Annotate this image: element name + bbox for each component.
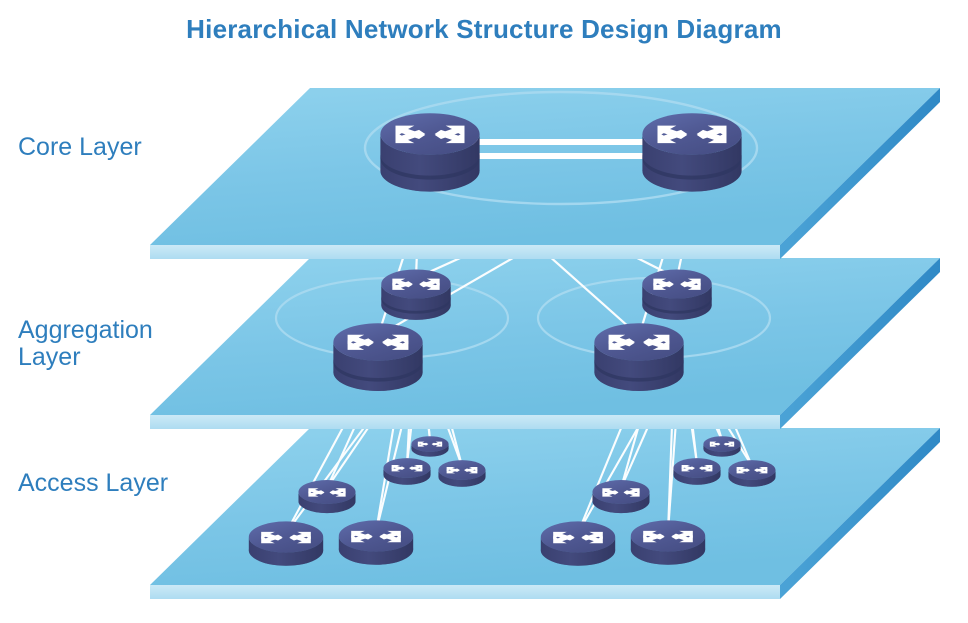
- router-icon[interactable]: [642, 269, 711, 319]
- router-icon[interactable]: [381, 269, 450, 319]
- router-icon[interactable]: [703, 436, 740, 456]
- layer-plane-access: [150, 428, 940, 599]
- router-icon[interactable]: [631, 520, 705, 564]
- router-icon[interactable]: [642, 113, 741, 191]
- router-icon[interactable]: [383, 458, 430, 485]
- layer-plane-core: [150, 88, 940, 259]
- router-icon[interactable]: [380, 113, 479, 191]
- router-icon[interactable]: [249, 521, 323, 565]
- router-icon[interactable]: [339, 520, 413, 564]
- diagram-root: Hierarchical Network Structure Design Di…: [0, 0, 968, 623]
- router-icon[interactable]: [592, 480, 649, 513]
- router-icon[interactable]: [333, 323, 422, 391]
- router-icon[interactable]: [438, 460, 485, 487]
- router-icon[interactable]: [298, 480, 355, 513]
- layer-plane-aggregation: [150, 258, 940, 429]
- router-icon[interactable]: [673, 458, 720, 485]
- router-icon[interactable]: [594, 323, 683, 391]
- network-topology-canvas: [0, 0, 968, 623]
- router-icon[interactable]: [411, 436, 448, 456]
- router-icon[interactable]: [728, 460, 775, 487]
- router-icon[interactable]: [541, 521, 615, 565]
